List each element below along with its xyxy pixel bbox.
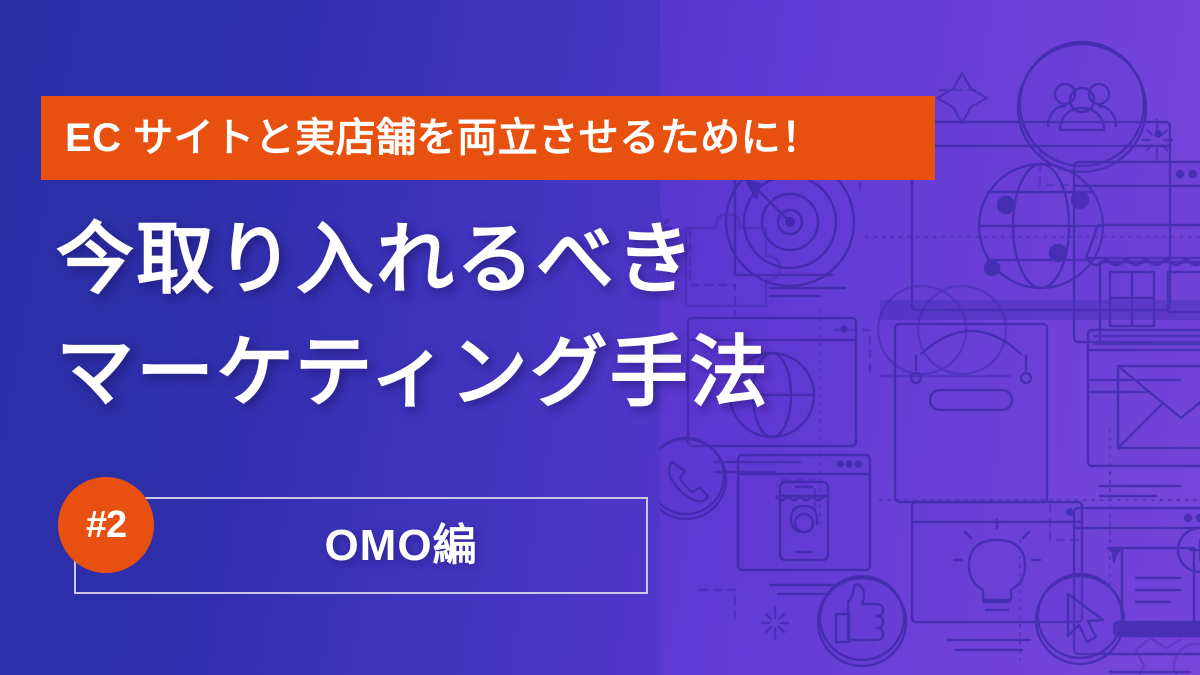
promo-banner-card: EC サイトと実店舗を両立させるために！ 今取り入れるべき マーケティング手法 … bbox=[0, 0, 1200, 675]
subtitle-text: OMO編 bbox=[244, 524, 477, 568]
issue-number-text: #2 bbox=[86, 506, 126, 544]
banner-content: EC サイトと実店舗を両立させるために！ 今取り入れるべき マーケティング手法 … bbox=[0, 0, 1200, 675]
subtitle-outline-box: OMO編 bbox=[74, 497, 648, 594]
headline-line-1: 今取り入れるべき bbox=[56, 220, 696, 298]
kicker-text: EC サイトと実店舗を両立させるために！ bbox=[41, 118, 822, 158]
kicker-highlight-bar: EC サイトと実店舗を両立させるために！ bbox=[41, 96, 935, 180]
headline-line-2: マーケティング手法 bbox=[56, 333, 770, 411]
issue-number-badge: #2 bbox=[58, 477, 154, 573]
